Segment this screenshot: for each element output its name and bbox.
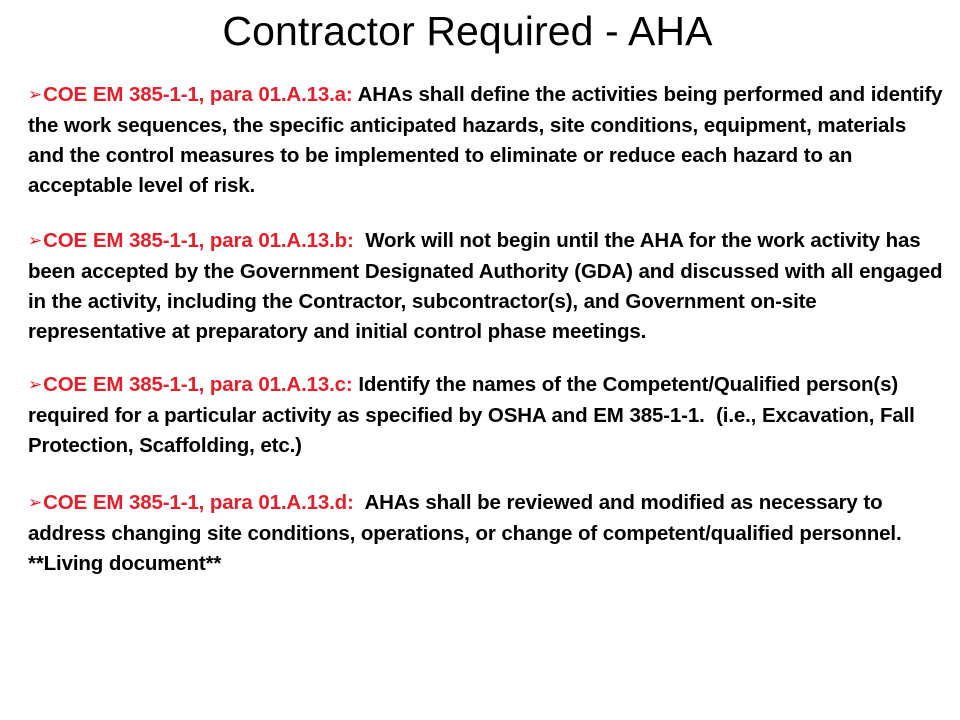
- bullet-paragraph-c: ➢COE EM 385-1-1, para 01.A.13.c: Identif…: [28, 370, 946, 461]
- arrowhead-right-bullet-icon: ➢: [28, 85, 42, 105]
- arrowhead-right-bullet-icon: ➢: [28, 231, 42, 251]
- slide-body: ➢COE EM 385-1-1, para 01.A.13.a: AHAs sh…: [28, 80, 946, 579]
- bullet-paragraph-b: ➢COE EM 385-1-1, para 01.A.13.b: Work wi…: [28, 226, 946, 347]
- reference-label-d: COE EM 385-1-1, para 01.A.13.d:: [43, 491, 354, 514]
- reference-label-b: COE EM 385-1-1, para 01.A.13.b:: [43, 229, 354, 252]
- bullet-paragraph-d: ➢COE EM 385-1-1, para 01.A.13.d: AHAs sh…: [28, 488, 946, 579]
- slide-canvas: Contractor Required - AHA ➢COE EM 385-1-…: [0, 0, 960, 720]
- reference-label-a: COE EM 385-1-1, para 01.A.13.a:: [43, 83, 353, 106]
- arrowhead-right-bullet-icon: ➢: [28, 493, 42, 513]
- reference-label-c: COE EM 385-1-1, para 01.A.13.c:: [43, 373, 353, 396]
- bullet-paragraph-a: ➢COE EM 385-1-1, para 01.A.13.a: AHAs sh…: [28, 80, 946, 201]
- page-title: Contractor Required - AHA: [0, 7, 935, 55]
- arrowhead-right-bullet-icon: ➢: [28, 375, 42, 395]
